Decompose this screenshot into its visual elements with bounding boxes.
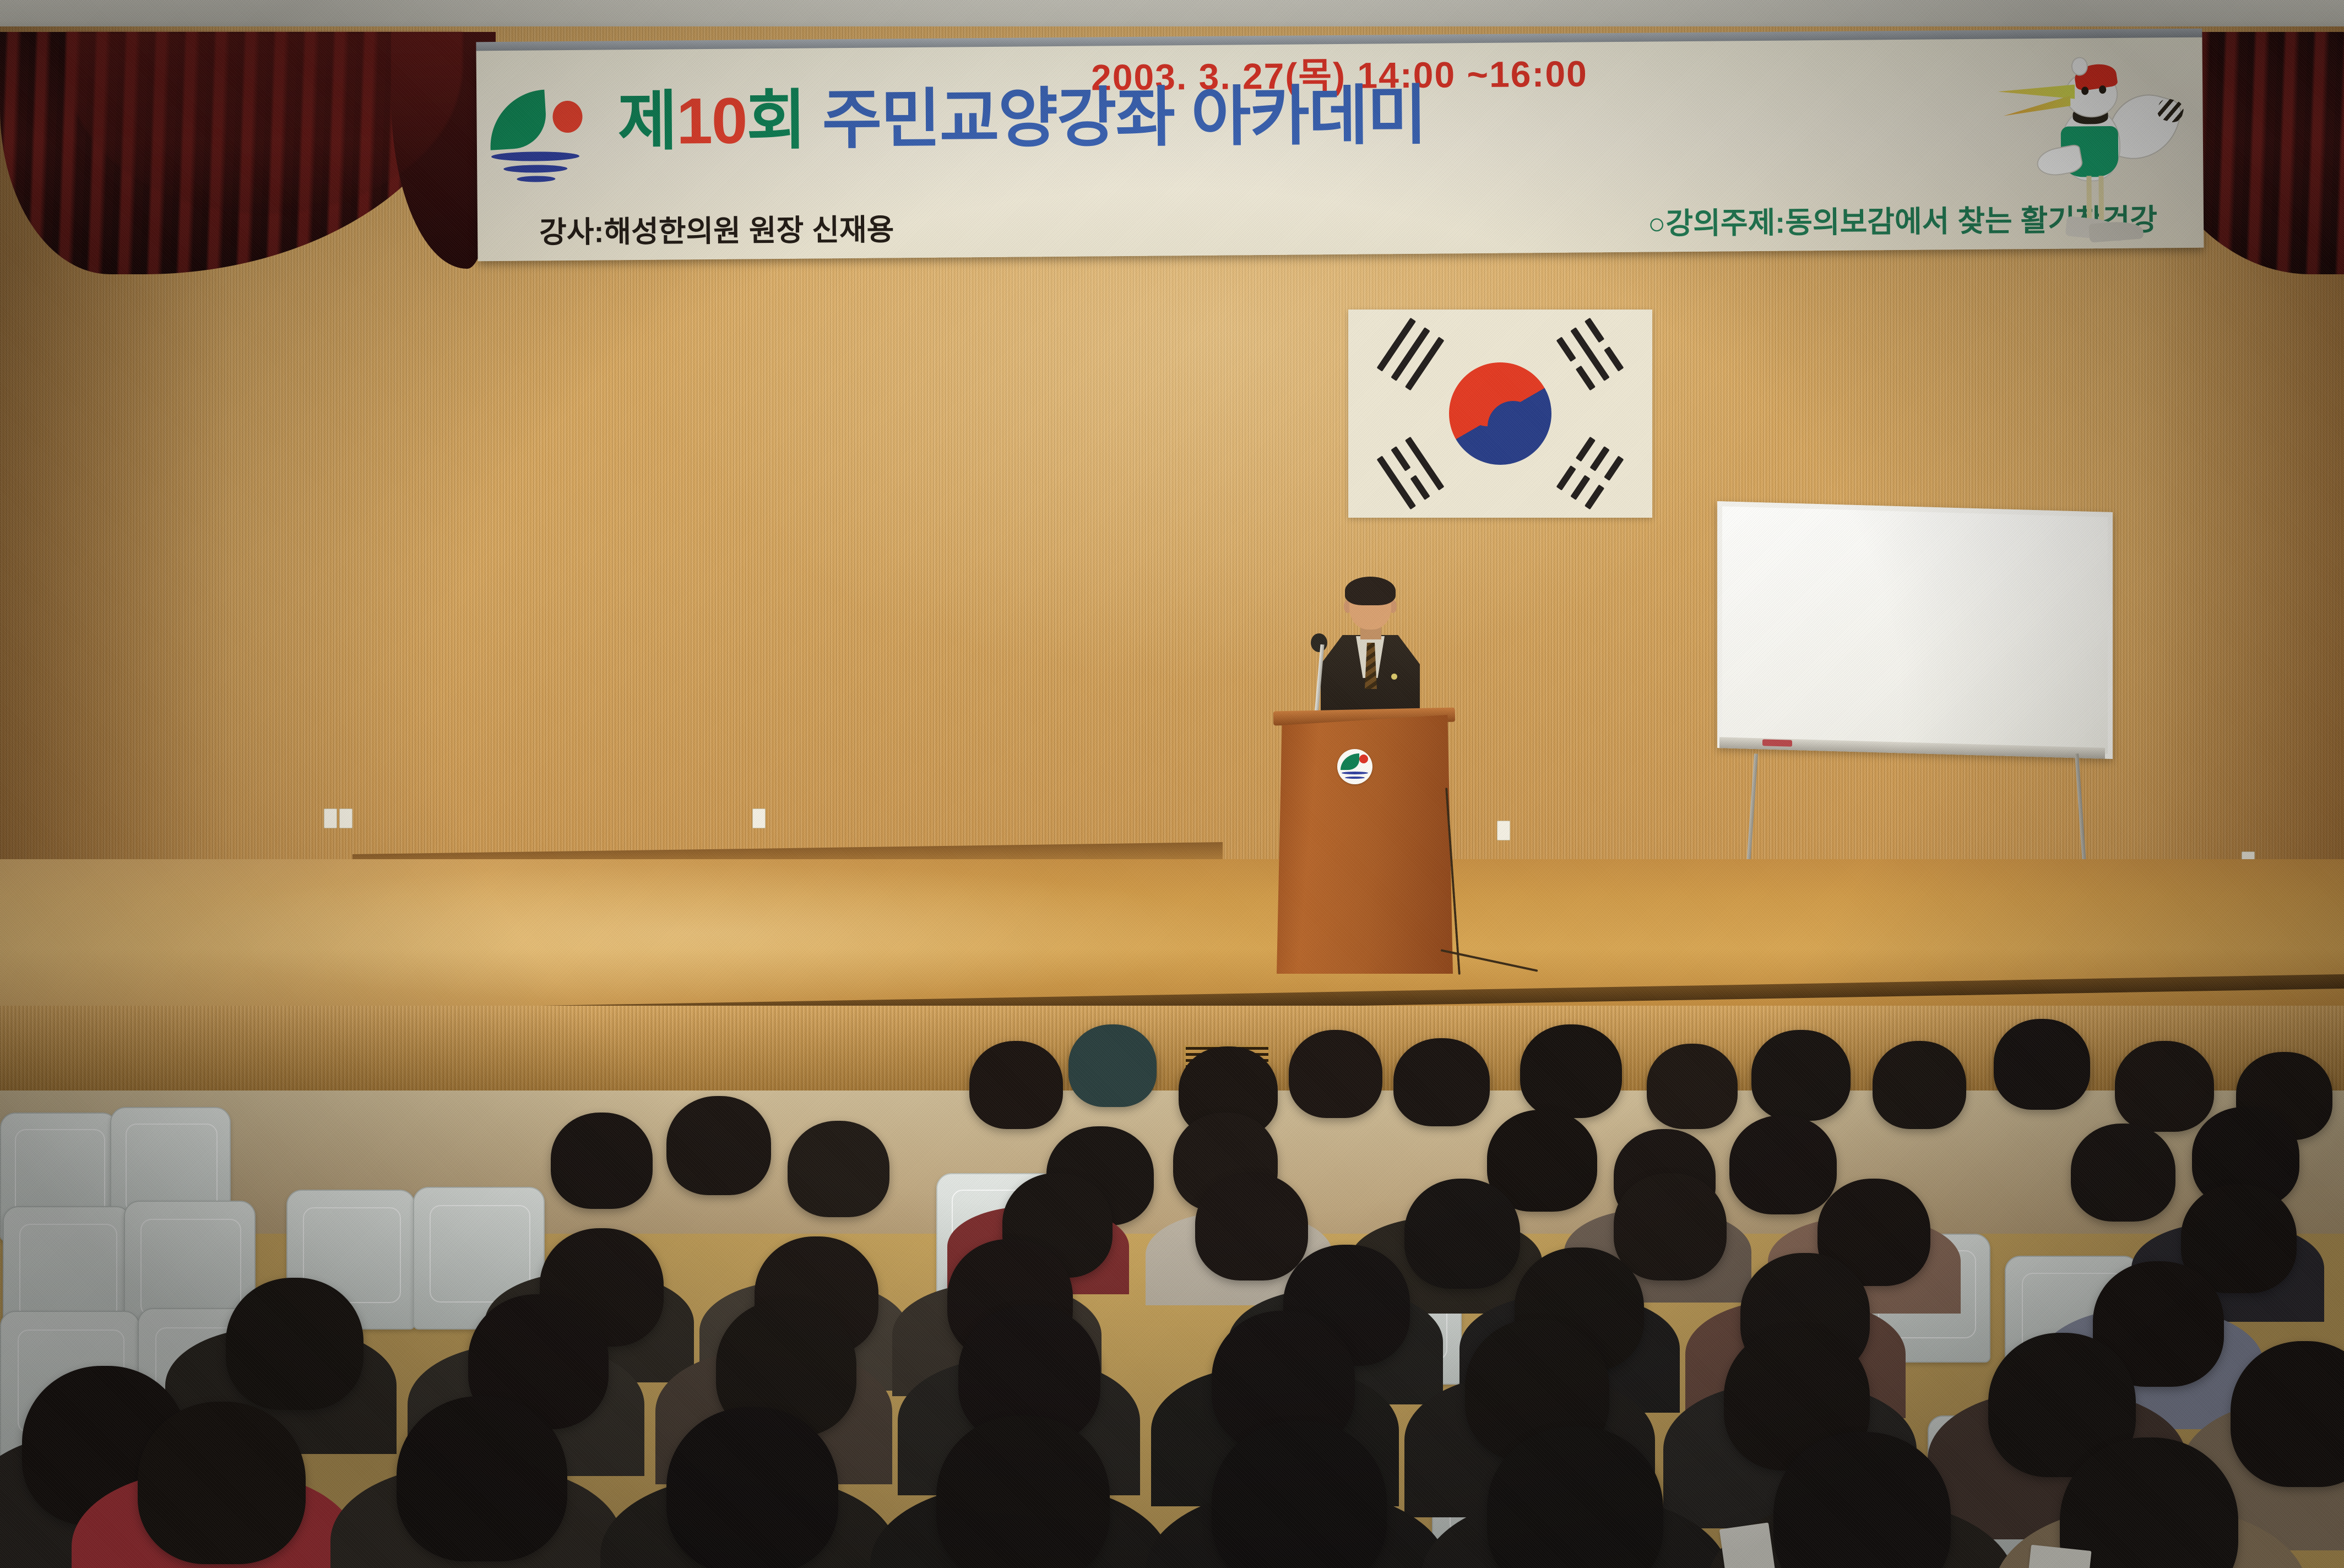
crane-foot-icon bbox=[2088, 220, 2144, 243]
audience-head bbox=[1647, 1044, 1738, 1129]
crane-leg-icon bbox=[2086, 176, 2092, 224]
audience-head bbox=[138, 1402, 306, 1564]
audience-head bbox=[1873, 1041, 1966, 1129]
taeguk-circle-icon bbox=[1449, 362, 1551, 465]
trigram-gam-icon bbox=[1556, 318, 1624, 391]
audience-head bbox=[2115, 1041, 2214, 1132]
wave-line-icon bbox=[491, 151, 579, 161]
crane-eye-icon bbox=[2099, 85, 2106, 94]
south-korean-flag-taegukgi bbox=[1348, 310, 1652, 518]
banner-subtitle-row: 강사:해성한의원 원장 신재용 ○강의주제:동의보감에서 찾는 활기찬건강 bbox=[478, 195, 2204, 252]
audience-head bbox=[1195, 1173, 1308, 1281]
audience-head bbox=[1520, 1024, 1622, 1118]
sun-circle-icon bbox=[1359, 755, 1368, 763]
audience-seating-area bbox=[0, 1090, 2344, 1568]
crane-beak-upper-icon bbox=[1998, 85, 2075, 100]
handout-paper bbox=[1719, 1522, 1778, 1568]
crane-eye-icon bbox=[2081, 86, 2088, 95]
banner-title-part-4: 주민교양강좌 아카데미 bbox=[805, 79, 1426, 157]
crane-beak-lower-icon bbox=[2003, 96, 2070, 116]
crane-mascot-icon bbox=[2007, 42, 2174, 247]
banner-title-part-3: 회 bbox=[746, 84, 806, 158]
audience-head bbox=[666, 1407, 838, 1568]
whiteboard-surface bbox=[1722, 506, 2108, 754]
speaker-lapel-pin bbox=[1391, 674, 1397, 680]
audience-head bbox=[1393, 1038, 1490, 1126]
wall-outlet bbox=[1497, 821, 1510, 840]
audience-head bbox=[2071, 1124, 2175, 1222]
audience-head bbox=[1404, 1179, 1520, 1289]
audience-head bbox=[969, 1041, 1063, 1129]
auditorium-photo-scene: 2003. 3. 27(목) 14:00 ~16:00 제10회 주민교양강좌 … bbox=[0, 0, 2344, 1568]
audience-head bbox=[936, 1415, 1110, 1568]
speaker-hair bbox=[1345, 577, 1396, 605]
audience-head bbox=[551, 1113, 653, 1209]
banner-title-part-2: 10 bbox=[676, 84, 747, 158]
banner-title-part-1: 제 bbox=[617, 85, 677, 158]
wall-outlet bbox=[339, 809, 352, 828]
audience-head bbox=[226, 1278, 363, 1410]
audience-head bbox=[666, 1096, 771, 1195]
speaker-person bbox=[1321, 581, 1420, 719]
wave-line-icon bbox=[517, 176, 555, 182]
wave-line-icon bbox=[1345, 777, 1365, 779]
event-banner: 2003. 3. 27(목) 14:00 ~16:00 제10회 주민교양강좌 … bbox=[476, 36, 2204, 262]
sail-shape-icon bbox=[1341, 753, 1359, 770]
audience-head bbox=[788, 1121, 889, 1217]
trigram-geon-icon bbox=[1377, 318, 1445, 391]
audience-head bbox=[1729, 1115, 1837, 1214]
banner-lecturer-line: 강사:해성한의원 원장 신재용 bbox=[539, 205, 894, 251]
crane-leg-icon bbox=[2098, 176, 2104, 224]
audience-head bbox=[1289, 1030, 1382, 1118]
sun-circle-icon bbox=[552, 101, 582, 133]
trigram-ri-icon bbox=[1377, 437, 1445, 510]
audience-head bbox=[1212, 1421, 1387, 1568]
whiteboard-on-easel bbox=[1717, 501, 2113, 759]
wave-line-icon bbox=[1342, 772, 1368, 774]
audience-head bbox=[1751, 1030, 1851, 1121]
microphone-icon bbox=[1311, 633, 1327, 652]
whiteboard-marker bbox=[1762, 739, 1792, 747]
audience-head bbox=[1068, 1024, 1157, 1107]
audience-head bbox=[1614, 1173, 1727, 1281]
wall-outlet bbox=[324, 809, 337, 828]
wall-outlet bbox=[752, 809, 766, 828]
crane-tuft-icon bbox=[2071, 57, 2088, 75]
banner-title: 제10회 주민교양강좌 아카데미 bbox=[617, 83, 1426, 155]
podium-emblem-icon bbox=[1337, 749, 1372, 784]
trigram-gon-icon bbox=[1556, 437, 1624, 510]
wave-line-icon bbox=[503, 165, 567, 173]
audience-head bbox=[397, 1396, 567, 1561]
audience-head bbox=[1994, 1019, 2090, 1110]
